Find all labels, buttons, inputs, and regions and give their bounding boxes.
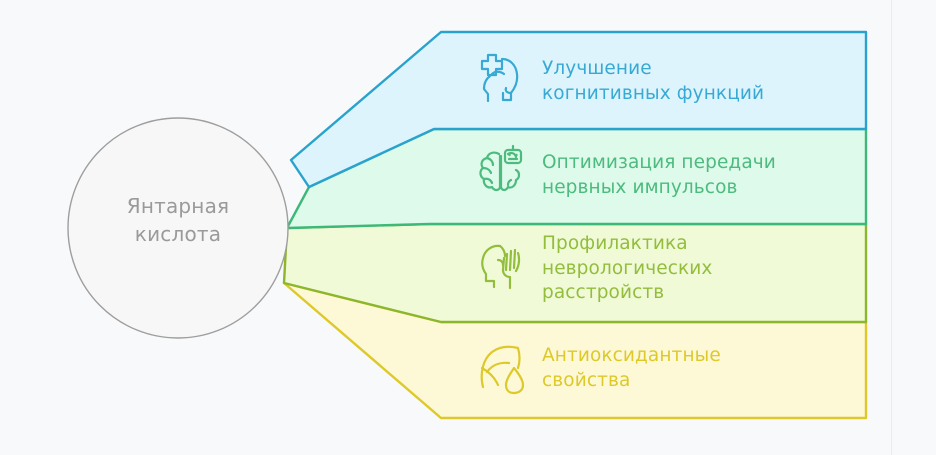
right-divider-rule: [891, 0, 892, 455]
center-label: Янтарная кислота: [68, 192, 288, 248]
panel-nerve-impulses-label: Оптимизация передачи нервных импульсов: [542, 151, 776, 200]
panel-neuro-prevention-label: Профилактика неврологических расстройств: [542, 232, 712, 306]
panel-antioxidant-label: Антиоксидантные свойства: [542, 344, 721, 393]
infographic-canvas: Янтарная кислота Улучшение когнитивных ф…: [0, 0, 936, 455]
panel-cognitive-label: Улучшение когнитивных функций: [542, 57, 764, 106]
